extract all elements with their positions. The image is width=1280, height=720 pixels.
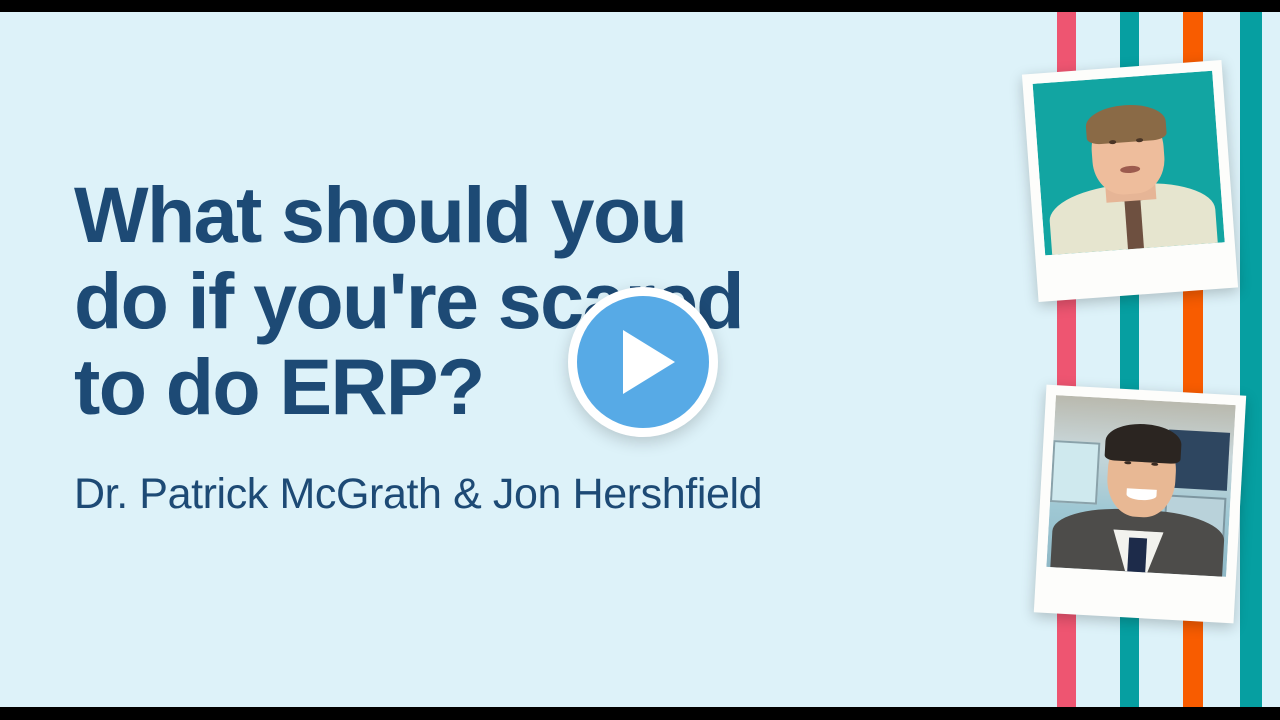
- speaker-photo-bottom-image: [1046, 395, 1235, 577]
- play-icon: [623, 330, 675, 394]
- video-frame: What should you do if you're scared to d…: [0, 12, 1280, 707]
- title-block: What should you do if you're scared to d…: [74, 172, 974, 519]
- play-button[interactable]: [568, 287, 718, 437]
- photo-window-left: [1050, 440, 1100, 504]
- speaker-photo-top-image: [1033, 71, 1225, 256]
- speaker-photo-top: [1022, 60, 1238, 302]
- photo-tie: [1127, 537, 1147, 572]
- stripe-teal-2: [1240, 12, 1262, 707]
- letterbox-bottom: [0, 707, 1280, 720]
- letterbox-top: [0, 0, 1280, 12]
- video-player[interactable]: What should you do if you're scared to d…: [0, 0, 1280, 720]
- video-subtitle: Dr. Patrick McGrath & Jon Hershfield: [74, 470, 974, 519]
- video-title: What should you do if you're scared to d…: [74, 172, 974, 430]
- speaker-photo-bottom: [1034, 385, 1246, 624]
